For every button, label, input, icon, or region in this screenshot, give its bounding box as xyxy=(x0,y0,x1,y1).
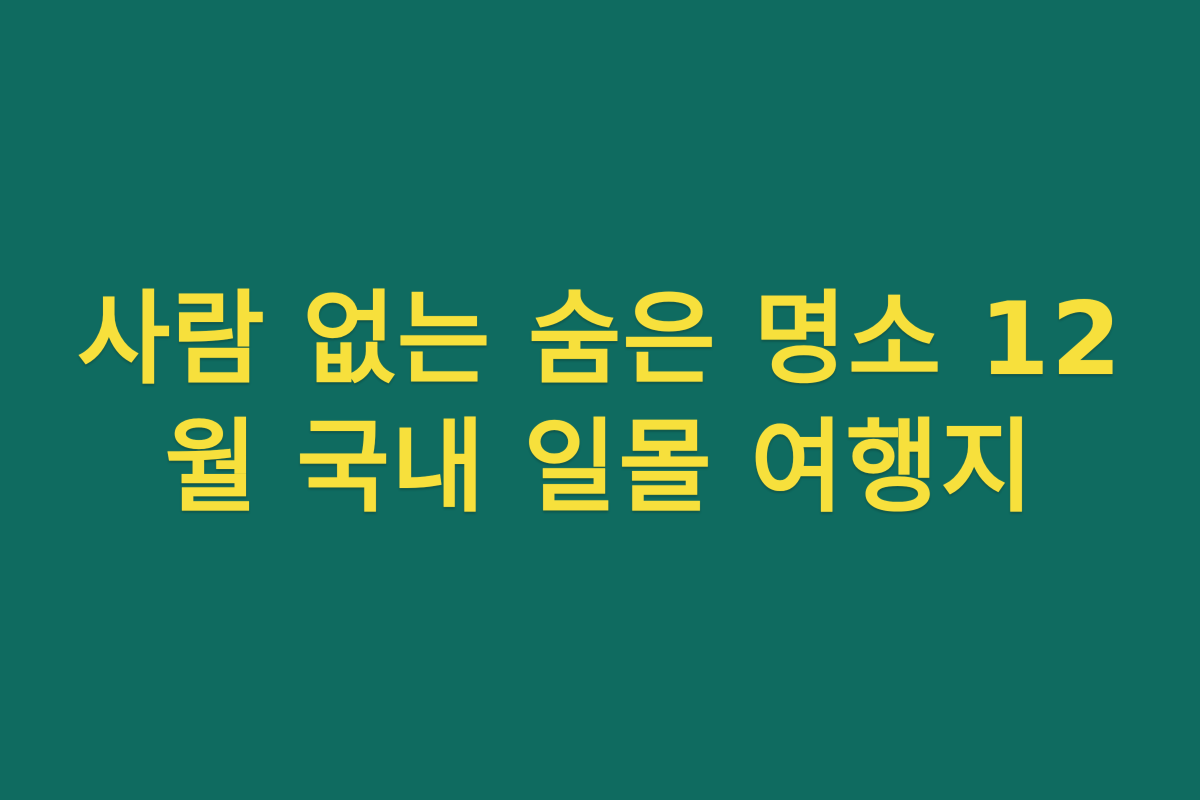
headline-block: 사람 없는 숨은 명소 12 월 국내 일몰 여행지 xyxy=(70,275,1130,531)
headline-line-2: 월 국내 일몰 여행지 xyxy=(70,403,1130,531)
thumbnail-card: 사람 없는 숨은 명소 12 월 국내 일몰 여행지 xyxy=(0,0,1200,800)
headline-line-1: 사람 없는 숨은 명소 12 xyxy=(70,275,1130,403)
